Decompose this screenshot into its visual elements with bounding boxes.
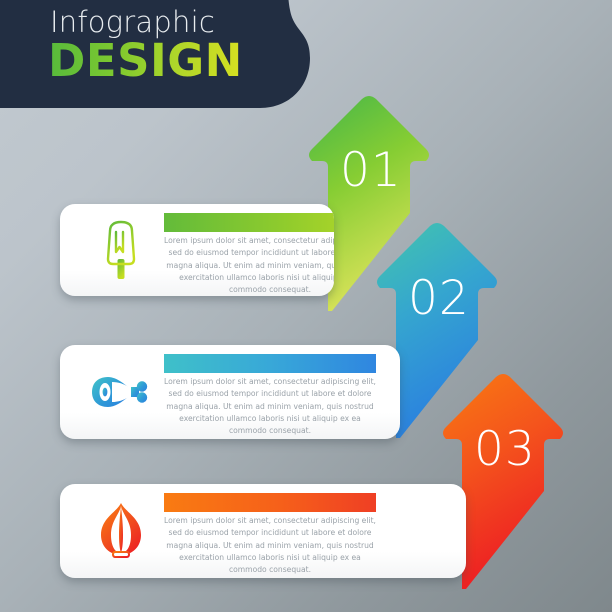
card-3-text-block: Lorem ipsum Lorem ipsum dolor sit amet, …	[164, 493, 376, 577]
onion-icon	[82, 495, 160, 567]
content-card-3[interactable]: Lorem ipsum Lorem ipsum dolor sit amet, …	[60, 484, 466, 578]
header-title-line1: Infographic	[50, 8, 243, 37]
card-1-description: Lorem ipsum dolor sit amet, consectetur …	[164, 235, 334, 296]
card-1-title: Lorem ipsum	[164, 213, 334, 232]
header-title-line2: DESIGN	[48, 38, 243, 83]
ice-cream-bar-icon	[82, 214, 160, 286]
content-card-1[interactable]: Lorem ipsum Lorem ipsum dolor sit amet, …	[60, 204, 334, 296]
card-2-title: Lorem ipsum	[164, 354, 376, 373]
card-2-text-block: Lorem ipsum Lorem ipsum dolor sit amet, …	[164, 354, 376, 438]
header-title-group: Infographic DESIGN	[48, 8, 243, 83]
chicken-drumstick-icon	[82, 356, 160, 428]
infographic-canvas: Infographic DESIGN 01	[0, 0, 612, 612]
card-2-description: Lorem ipsum dolor sit amet, consectetur …	[164, 376, 376, 437]
card-3-title: Lorem ipsum	[164, 493, 376, 512]
card-1-text-block: Lorem ipsum Lorem ipsum dolor sit amet, …	[164, 213, 334, 296]
card-3-description: Lorem ipsum dolor sit amet, consectetur …	[164, 515, 376, 576]
content-card-2[interactable]: Lorem ipsum Lorem ipsum dolor sit amet, …	[60, 345, 400, 439]
